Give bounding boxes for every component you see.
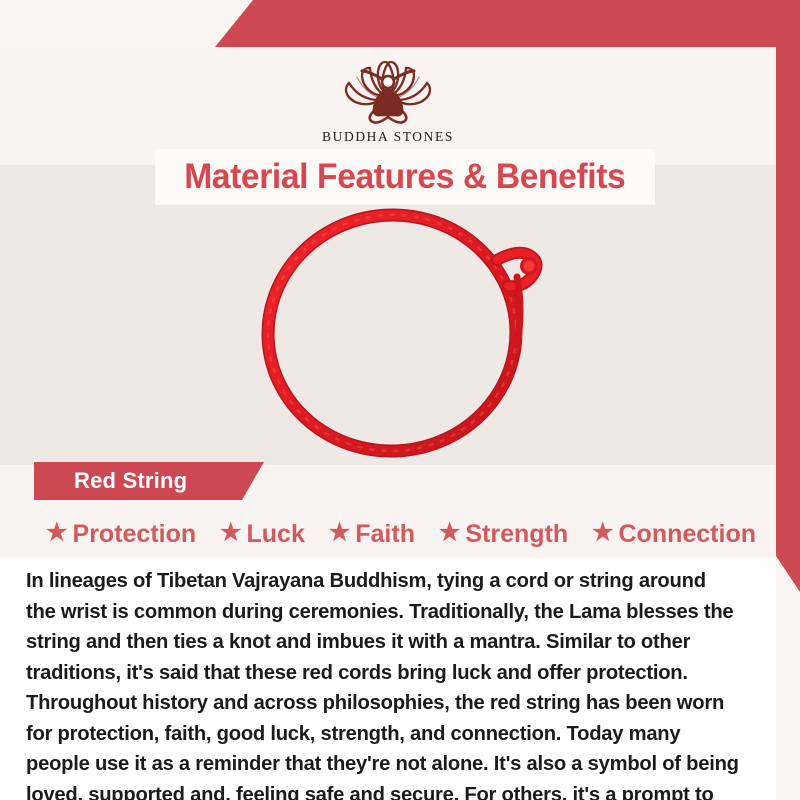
benefit-item-faith: ★ Faith: [329, 520, 415, 549]
brand-logo: BUDDHA STONES: [0, 55, 776, 145]
material-label-badge: Red String: [34, 462, 264, 500]
star-icon: ★: [592, 521, 614, 545]
star-icon: ★: [46, 521, 68, 545]
benefit-label: Protection: [73, 520, 197, 549]
top-red-banner-shape: [215, 0, 800, 47]
benefit-label: Faith: [355, 520, 415, 549]
description-text: In lineages of Tibetan Vajrayana Buddhis…: [26, 566, 739, 800]
star-icon: ★: [220, 521, 242, 545]
benefit-label: Strength: [465, 520, 568, 549]
star-icon: ★: [329, 521, 351, 545]
lotus-meditation-icon: [313, 55, 463, 127]
product-image: [0, 165, 776, 465]
content-panel: BUDDHA STONES Material Features & Benefi…: [0, 47, 776, 800]
right-red-band-shape: [776, 0, 800, 592]
benefit-label: Luck: [247, 520, 305, 549]
benefits-list: ★ Protection ★ Luck ★ Faith ★ Strength ★…: [46, 513, 756, 555]
benefit-item-connection: ★ Connection: [592, 520, 756, 549]
page-title: Material Features & Benefits: [184, 157, 625, 197]
red-string-bracelet-illustration: [0, 165, 776, 465]
benefit-item-luck: ★ Luck: [220, 520, 305, 549]
star-icon: ★: [439, 521, 461, 545]
description-block: In lineages of Tibetan Vajrayana Buddhis…: [0, 558, 776, 800]
benefit-item-strength: ★ Strength: [439, 520, 568, 549]
page-title-bar: Material Features & Benefits: [155, 149, 655, 205]
benefit-item-protection: ★ Protection: [46, 520, 196, 549]
brand-name: BUDDHA STONES: [322, 129, 454, 145]
benefit-label: Connection: [619, 520, 757, 549]
material-label-text: Red String: [34, 468, 187, 494]
infographic-page: BUDDHA STONES Material Features & Benefi…: [0, 0, 800, 800]
